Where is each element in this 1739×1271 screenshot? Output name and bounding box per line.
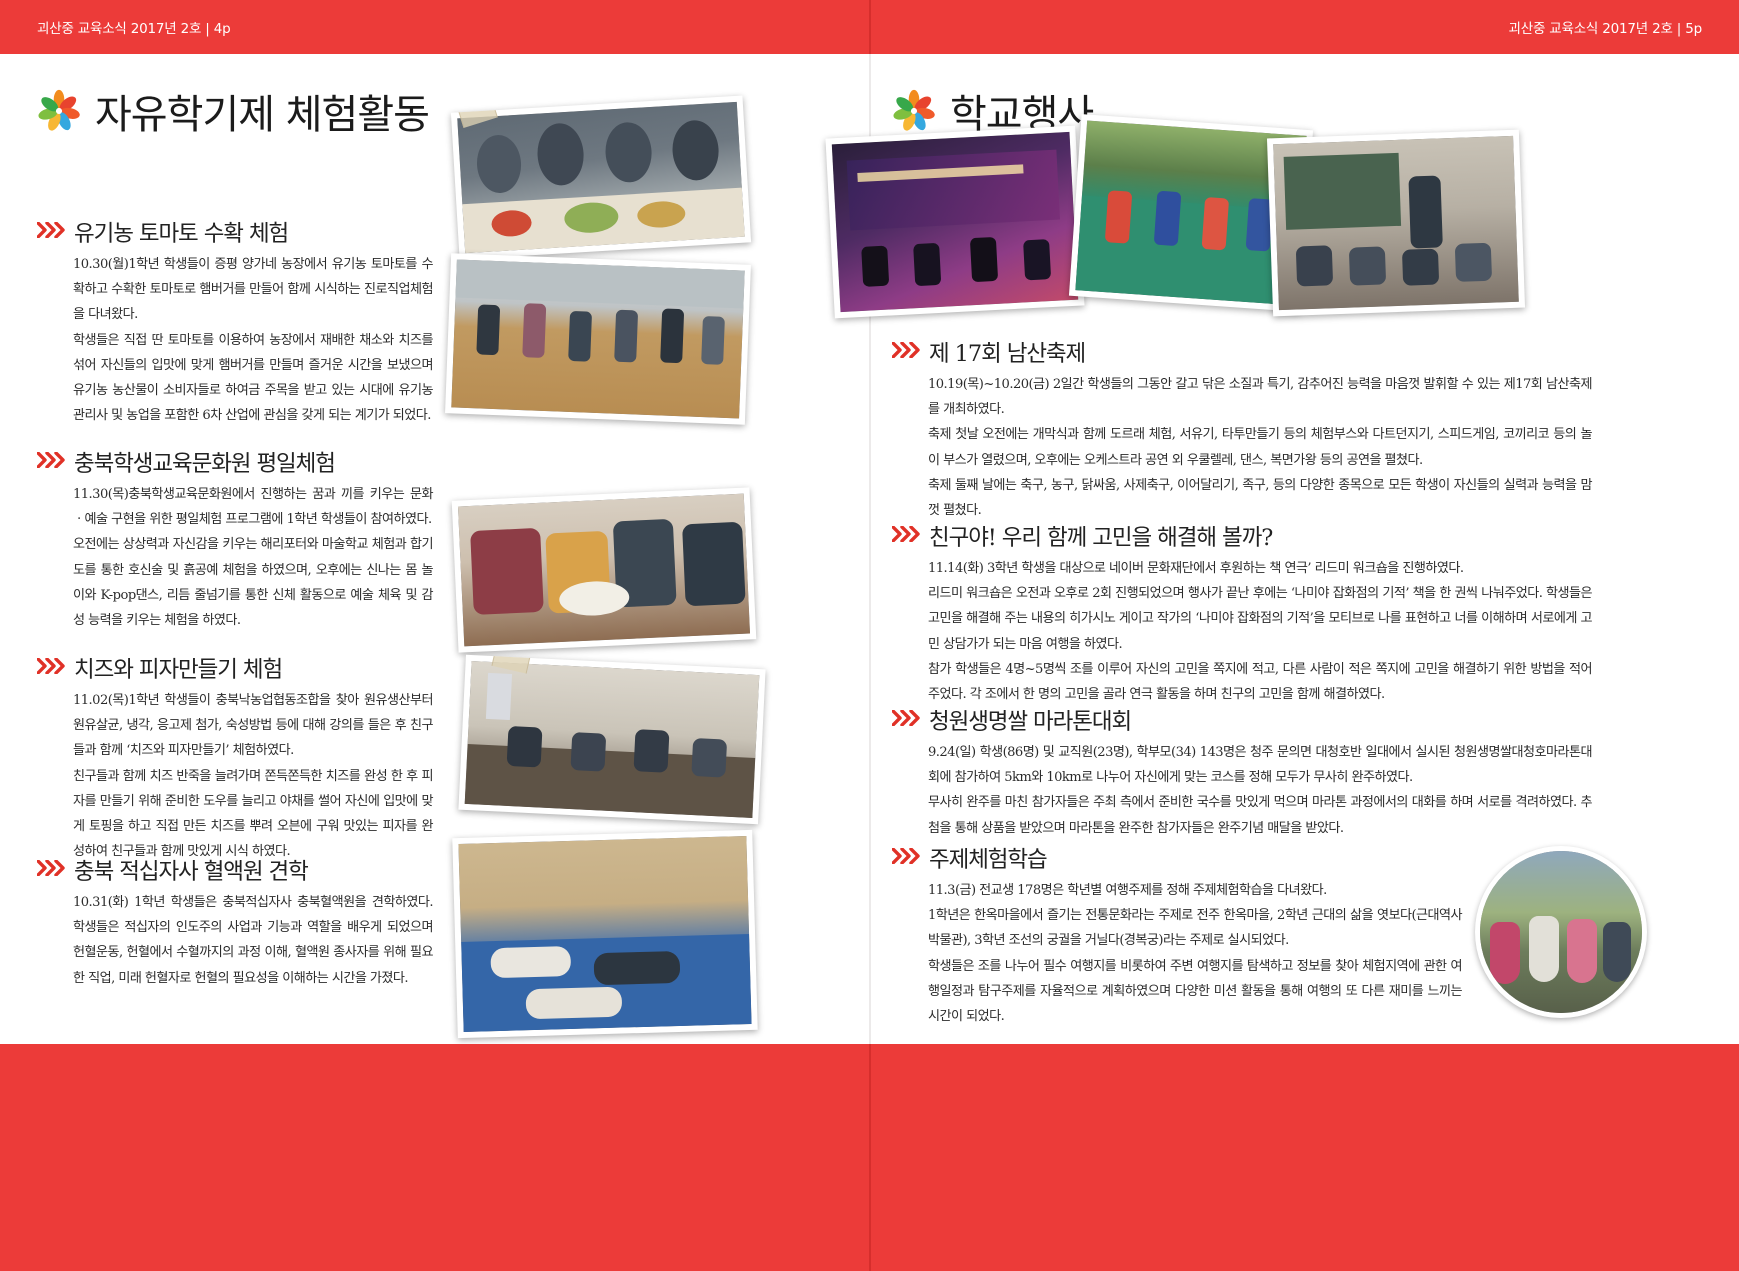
article-heading-row: 친구야! 우리 함께 고민을 해결해 볼까?	[892, 520, 1592, 552]
article-friend-worry-workshop: 친구야! 우리 함께 고민을 해결해 볼까? 11.14(화) 3학년 학생을 …	[892, 520, 1592, 707]
article-theme-field-trip: 주제체험학습 11.3(금) 전교생 178명은 학년별 여행주제를 정해 주제…	[892, 842, 1462, 1029]
chevron-right-triple-icon	[892, 526, 920, 542]
article-paragraph: 1학년은 한옥마을에서 즐기는 전통문화라는 주제로 전주 한옥마을, 2학년 …	[928, 903, 1462, 953]
article-paragraph: 학생들은 조를 나누어 필수 여행지를 비롯하여 주변 여행지를 탐색하고 정보…	[928, 954, 1462, 1030]
article-tomato-harvest: 유기농 토마토 수확 체험 10.30(월)1학년 학생들이 증평 양가네 농장…	[37, 216, 433, 428]
article-paragraph: 무사히 완주를 마친 참가자들은 주최 측에서 준비한 국수를 맛있게 먹으며 …	[928, 790, 1592, 840]
right-page: 학교행사	[870, 54, 1739, 1044]
article-paragraph: 11.30(목)충북학생교육문화원에서 진행하는 꿈과 끼를 키우는 문화ㆍ예술…	[73, 482, 433, 532]
article-body: 11.02(목)1학년 학생들이 충북낙농업협동조합을 찾아 원유생산부터 원유…	[37, 688, 433, 864]
chevron-right-triple-icon	[892, 342, 920, 358]
chevron-right-triple-icon	[37, 222, 65, 238]
article-heading: 충북학생교육문화원 평일체험	[74, 446, 335, 478]
article-paragraph: 리드미 워크숍은 오전과 오후로 2회 진행되었으며 행사가 끝난 후에는 ‘나…	[928, 581, 1592, 657]
page-sheet: 자유학기제 체험활동 유기농 토마토 수확 체험 10.30(월)1학년 학생들…	[0, 54, 1739, 1044]
photo-culture-center-gym	[445, 253, 751, 424]
article-heading: 충북 적십자사 혈액원 견학	[74, 854, 308, 886]
pinwheel-icon	[892, 89, 936, 133]
band-split-line	[869, 1044, 871, 1271]
article-heading-row: 제 17회 남산축제	[892, 336, 1592, 368]
article-red-cross: 충북 적십자사 혈액원 견학 10.31(화) 1학년 학생들은 충북적십자사 …	[37, 854, 433, 991]
photo-tomato-burger-making	[451, 95, 751, 259]
article-heading: 유기농 토마토 수확 체험	[74, 216, 288, 248]
article-paragraph: 10.31(화) 1학년 학생들은 충북적십자사 충북혈액원을 견학하였다. 학…	[73, 890, 433, 991]
chevron-right-triple-icon	[37, 860, 65, 876]
chevron-right-triple-icon	[892, 710, 920, 726]
left-page-title-text: 자유학기제 체험활동	[95, 82, 429, 140]
article-paragraph: 10.30(월)1학년 학생들이 증평 양가네 농장에서 유기농 토마토를 수확…	[73, 252, 433, 328]
article-heading: 친구야! 우리 함께 고민을 해결해 볼까?	[929, 520, 1272, 552]
article-paragraph: 11.02(목)1학년 학생들이 충북낙농업협동조합을 찾아 원유생산부터 원유…	[73, 688, 433, 764]
photo-blood-center-lecture	[458, 655, 765, 824]
article-paragraph: 친구들과 함께 치즈 반죽을 늘려가며 쫀득쫀득한 치즈를 완성 한 후 피자를…	[73, 764, 433, 865]
left-page-title: 자유학기제 체험활동	[37, 82, 429, 140]
article-body: 11.3(금) 전교생 178명은 학년별 여행주제를 정해 주제체험학습을 다…	[892, 878, 1462, 1029]
article-heading: 청원생명쌀 마라톤대회	[929, 704, 1131, 736]
header-right-pagemark: 괴산중 교육소식 2017년 2호 | 5p	[1509, 17, 1703, 37]
photo-cheese-making	[452, 487, 757, 652]
article-paragraph: 10.19(목)~10.20(금) 2일간 학생들의 그동안 갈고 닦은 소질과…	[928, 372, 1592, 422]
left-page: 자유학기제 체험활동 유기농 토마토 수확 체험 10.30(월)1학년 학생들…	[0, 54, 869, 1044]
article-body: 10.19(목)~10.20(금) 2일간 학생들의 그동안 갈고 닦은 소질과…	[892, 372, 1592, 523]
article-paragraph: 9.24(일) 학생(86명) 및 교직원(23명), 학부모(34) 143명…	[928, 740, 1592, 790]
article-culture-center: 충북학생교육문화원 평일체험 11.30(목)충북학생교육문화원에서 진행하는 …	[37, 446, 433, 633]
article-heading-row: 충북학생교육문화원 평일체험	[37, 446, 433, 478]
article-paragraph: 축제 첫날 오전에는 개막식과 함께 도르래 체험, 서유기, 타투만들기 등의…	[928, 422, 1592, 472]
bottom-red-band	[0, 1044, 1739, 1271]
article-heading-row: 청원생명쌀 마라톤대회	[892, 704, 1592, 736]
article-heading: 주제체험학습	[929, 842, 1047, 874]
article-namsan-festival: 제 17회 남산축제 10.19(목)~10.20(금) 2일간 학생들의 그동…	[892, 336, 1592, 523]
article-paragraph: 11.14(화) 3학년 학생을 대상으로 네이버 문화재단에서 후원하는 책 …	[928, 556, 1592, 581]
article-paragraph: 참가 학생들은 4명~5명씩 조를 이루어 자신의 고민을 쪽지에 적고, 다른…	[928, 657, 1592, 707]
pinwheel-icon	[37, 89, 81, 133]
article-paragraph: 축제 둘째 날에는 축구, 농구, 닭싸움, 사제축구, 이어달리기, 족구, …	[928, 473, 1592, 523]
chevron-right-triple-icon	[37, 452, 65, 468]
article-body: 11.14(화) 3학년 학생을 대상으로 네이버 문화재단에서 후원하는 책 …	[892, 556, 1592, 707]
article-paragraph: 11.3(금) 전교생 178명은 학년별 여행주제를 정해 주제체험학습을 다…	[928, 878, 1462, 903]
photo-hanok-village-trip	[1475, 846, 1647, 1018]
chevron-right-triple-icon	[37, 658, 65, 674]
chevron-right-triple-icon	[892, 848, 920, 864]
article-paragraph: 학생들은 직접 딴 토마토를 이용하여 농장에서 재배한 채소와 치즈를 섞어 …	[73, 328, 433, 429]
article-heading-row: 유기농 토마토 수확 체험	[37, 216, 433, 248]
header-left-pagemark: 괴산중 교육소식 2017년 2호 | 4p	[37, 17, 231, 37]
article-heading: 제 17회 남산축제	[929, 336, 1085, 368]
article-heading-row: 치즈와 피자만들기 체험	[37, 652, 433, 684]
article-paragraph: 오전에는 상상력과 자신감을 키우는 해리포터와 마술학교 체험과 합기도를 통…	[73, 532, 433, 633]
article-cheese-pizza: 치즈와 피자만들기 체험 11.02(목)1학년 학생들이 충북낙농업협동조합을…	[37, 652, 433, 864]
photo-namsan-festival-stage	[825, 126, 1084, 319]
article-marathon: 청원생명쌀 마라톤대회 9.24(일) 학생(86명) 및 교직원(23명), …	[892, 704, 1592, 841]
band-split-line	[869, 0, 871, 54]
newsletter-spread: 괴산중 교육소식 2017년 2호 | 4p 괴산중 교육소식 2017년 2호…	[0, 0, 1739, 1271]
article-body: 9.24(일) 학생(86명) 및 교직원(23명), 학부모(34) 143명…	[892, 740, 1592, 841]
article-heading-row: 주제체험학습	[892, 842, 1462, 874]
photo-gym-mat-activity	[452, 830, 757, 1038]
article-heading-row: 충북 적십자사 혈액원 견학	[37, 854, 433, 886]
article-body: 11.30(목)충북학생교육문화원에서 진행하는 꿈과 끼를 키우는 문화ㆍ예술…	[37, 482, 433, 633]
article-heading: 치즈와 피자만들기 체험	[74, 652, 282, 684]
top-red-band: 괴산중 교육소식 2017년 2호 | 4p 괴산중 교육소식 2017년 2호…	[0, 0, 1739, 54]
article-body: 10.31(화) 1학년 학생들은 충북적십자사 충북혈액원을 견학하였다. 학…	[37, 890, 433, 991]
photo-classroom-lecture	[1267, 130, 1525, 317]
article-body: 10.30(월)1학년 학생들이 증평 양가네 농장에서 유기농 토마토를 수확…	[37, 252, 433, 428]
